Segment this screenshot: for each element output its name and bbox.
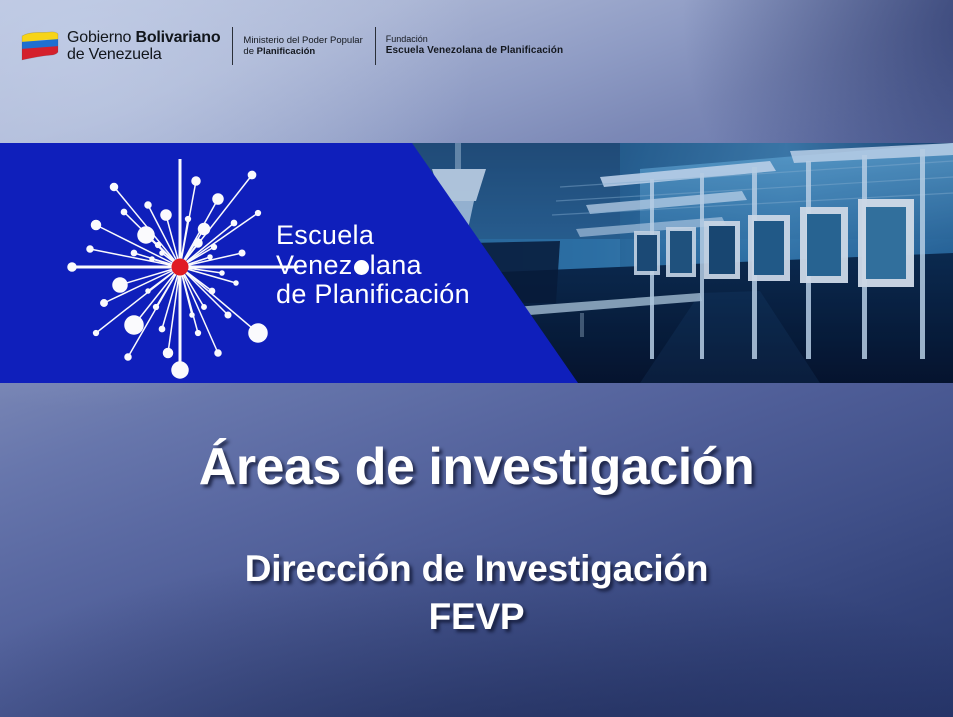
ministry-line2-bold: Planificación: [257, 46, 316, 57]
ministry-line2-plain: de: [243, 46, 256, 57]
gov-line1-plain: Gobierno: [67, 29, 135, 46]
starburst-network-icon: [62, 157, 302, 382]
header-divider-2: [375, 27, 376, 65]
logo-line-3: de Planificación: [276, 280, 470, 310]
government-branding-header: Gobierno Bolivariano de Venezuela Minist…: [20, 26, 563, 66]
venezuela-flag-icon: [20, 31, 60, 61]
government-name: Gobierno Bolivariano de Venezuela: [67, 29, 220, 64]
slide-subtitle: Dirección de Investigación FEVP: [0, 545, 953, 641]
logo-wordmark: Escuela Venezlana de Planificación: [276, 221, 470, 310]
logo-center-dot: [172, 259, 189, 276]
ministry-name: Ministerio del Poder Popular de Planific…: [243, 35, 362, 57]
logo-line-1: Escuela: [276, 221, 470, 251]
foundation-line2: Escuela Venezolana de Planificación: [386, 45, 563, 57]
hero-banner: Escuela Venezlana de Planificación: [0, 143, 953, 383]
slide-title: Áreas de investigación: [0, 437, 953, 497]
foundation-line1: Fundación: [386, 34, 563, 45]
presentation-slide: Gobierno Bolivariano de Venezuela Minist…: [0, 0, 953, 717]
foundation-name: Fundación Escuela Venezolana de Planific…: [386, 34, 563, 57]
logo-line2-after: lana: [370, 250, 422, 280]
gov-line1-bold: Bolivariano: [135, 29, 220, 46]
logo-line2-before: Venez: [276, 250, 353, 280]
subtitle-line-2: FEVP: [0, 593, 953, 641]
subtitle-line-1: Dirección de Investigación: [0, 545, 953, 593]
header-divider-1: [232, 27, 233, 65]
ministry-line1: Ministerio del Poder Popular: [243, 35, 362, 46]
logo-line-2: Venezlana: [276, 251, 470, 281]
logo-dot-o-icon: [354, 260, 369, 275]
gov-line2: de Venezuela: [67, 46, 220, 63]
